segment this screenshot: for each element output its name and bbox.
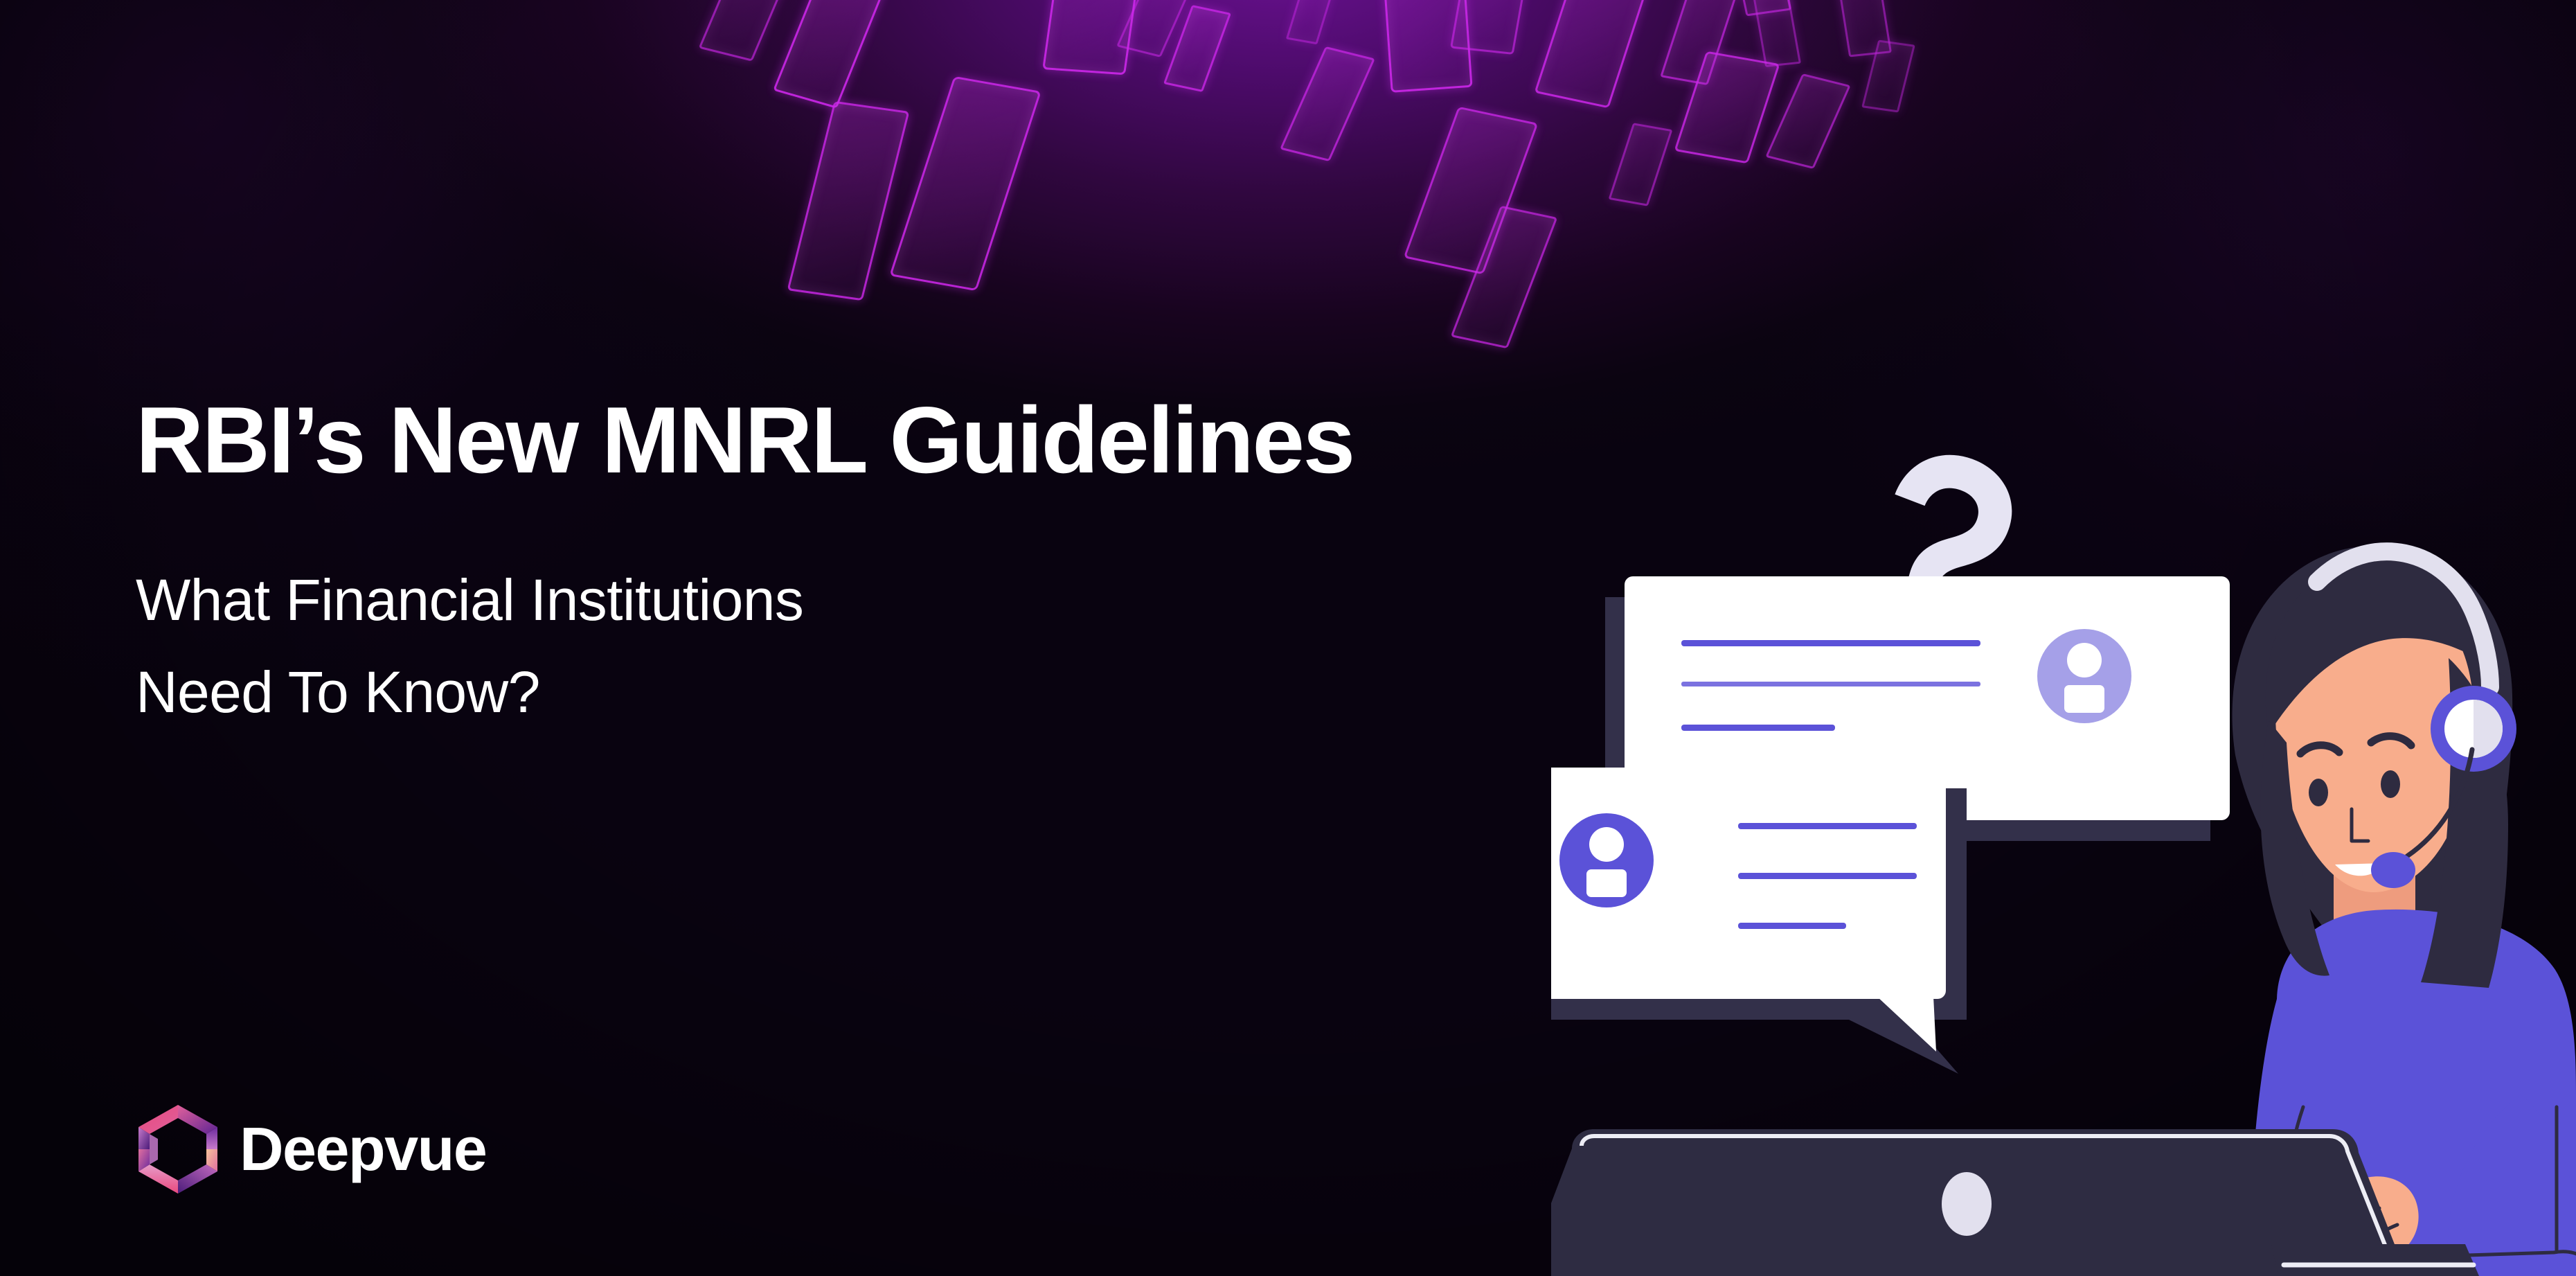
chat-bubble-bottom bbox=[1551, 768, 1967, 1074]
hero-illustration bbox=[1551, 429, 2576, 1276]
hexagon-prism-icon bbox=[136, 1103, 220, 1196]
bubble-top-avatar bbox=[2037, 629, 2131, 723]
banner-canvas: RBI’s New MNRL Guidelines What Financial… bbox=[0, 0, 2576, 1276]
brand-logo[interactable]: Deepvue bbox=[136, 1103, 486, 1196]
page-subtitle-line-2: Need To Know? bbox=[136, 646, 1382, 738]
headset-mic bbox=[2371, 852, 2415, 888]
laptop-icon bbox=[1551, 1129, 2479, 1276]
brand-name: Deepvue bbox=[240, 1119, 486, 1180]
page-subtitle: What Financial Institutions Need To Know… bbox=[136, 554, 1382, 738]
page-title: RBI’s New MNRL Guidelines bbox=[136, 392, 1798, 488]
page-subtitle-line-1: What Financial Institutions bbox=[136, 554, 1382, 646]
bubble-bottom-avatar bbox=[1559, 813, 1654, 907]
